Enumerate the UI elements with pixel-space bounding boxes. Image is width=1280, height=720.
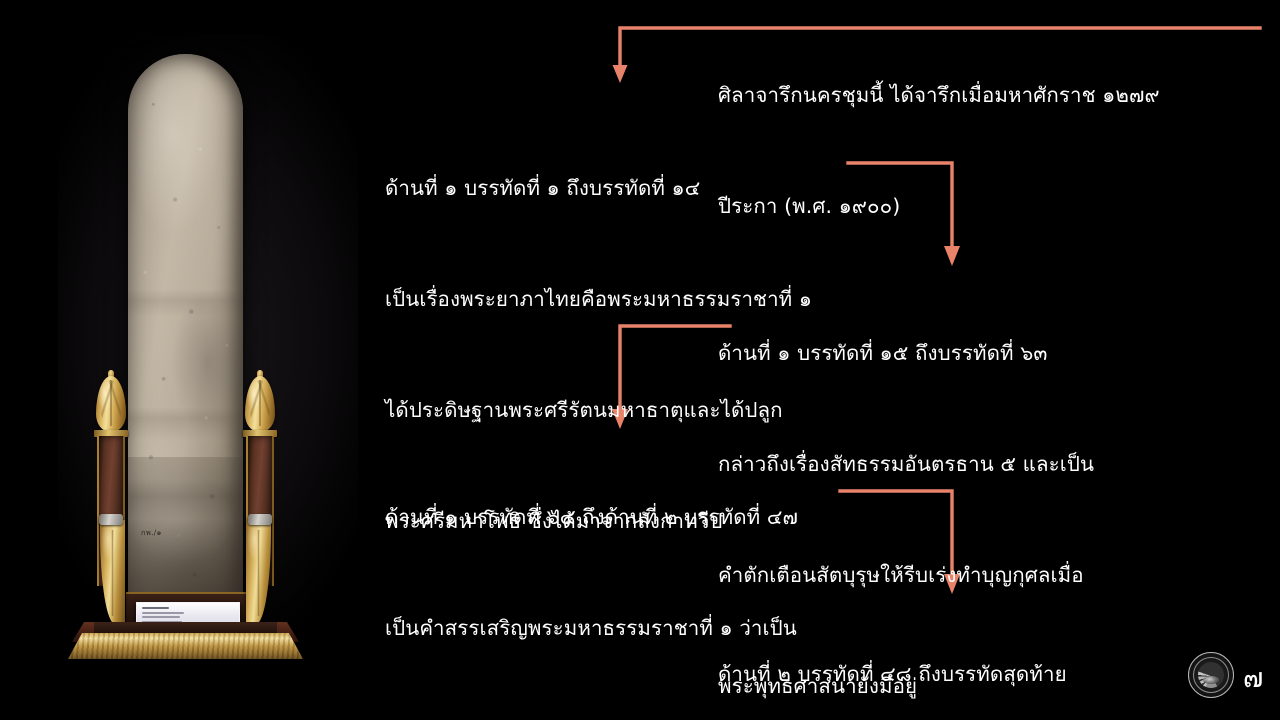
page-number: ๗ xyxy=(1243,663,1263,695)
section-2-line-1: ด้านที่ ๑ บรรทัดที่ ๑๕ ถึงบรรทัดที่ ๖๓ xyxy=(718,335,1094,372)
section-4-text-block: ด้านที่ ๒ บรรทัดที่ ๔๘ ถึงบรรทัดสุดท้าย … xyxy=(718,582,1137,720)
post-bolt-icon xyxy=(99,514,123,525)
section-4-line-1: ด้านที่ ๒ บรรทัดที่ ๔๘ ถึงบรรทัดสุดท้าย xyxy=(718,656,1137,693)
stele-photograph: กพ./๑ xyxy=(58,34,358,664)
post-bracket xyxy=(246,520,271,624)
gold-finial-icon xyxy=(96,376,126,432)
display-pedestal xyxy=(68,370,303,656)
post-bracket xyxy=(100,520,125,624)
section-3-line-1: ด้านที่ ๑ บรรทัดที่ ๖๔ ถึงด้านที่ ๒ บรรท… xyxy=(385,499,798,536)
plinth-gold-molding xyxy=(68,633,303,659)
plaque-heading-line xyxy=(142,607,169,609)
post-bolt-icon xyxy=(248,514,272,525)
presentation-slide: กพ./๑ xyxy=(0,0,1280,720)
section-1-line-1: ด้านที่ ๑ บรรทัดที่ ๑ ถึงบรรทัดที่ ๑๔ xyxy=(385,170,812,207)
organization-seal-icon xyxy=(1188,652,1234,698)
pedestal-plinth xyxy=(68,622,303,662)
gold-finial-icon xyxy=(245,376,275,432)
